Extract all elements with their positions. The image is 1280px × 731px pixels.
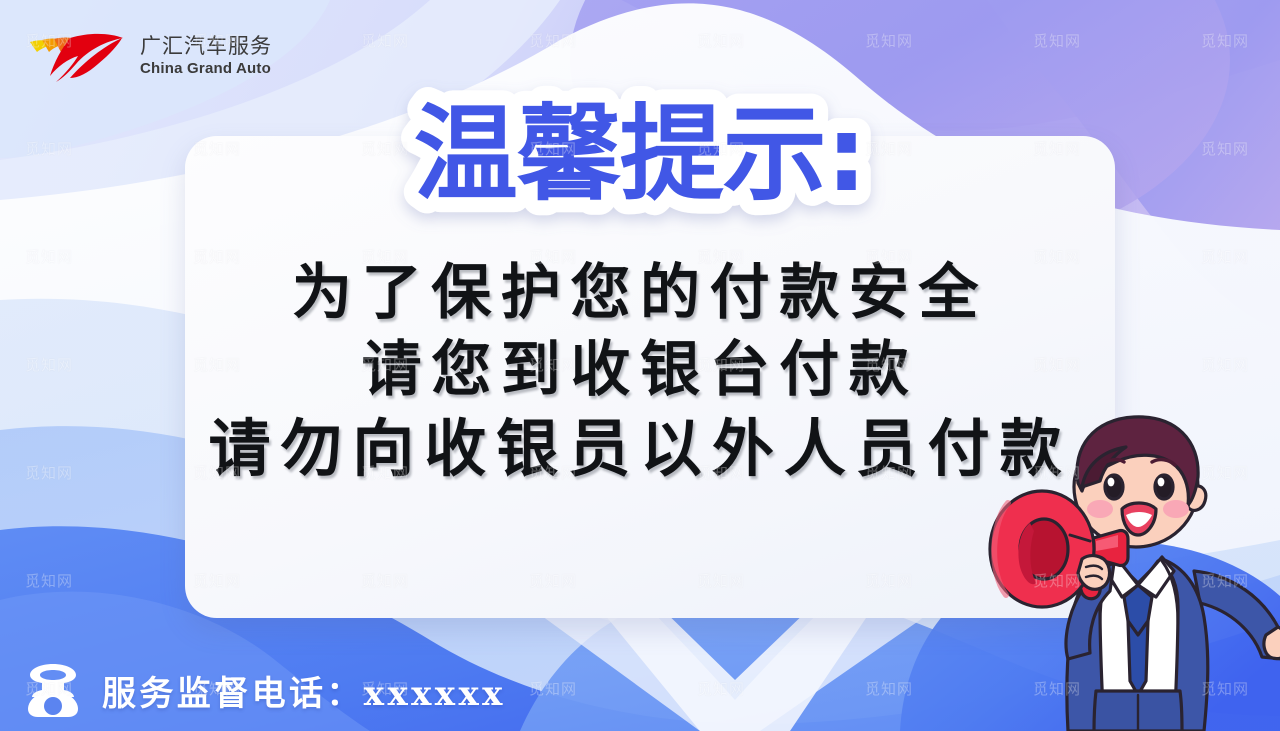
- service-hotline-text: 服务监督电话：xxxxxx: [102, 666, 506, 715]
- swoosh-logo-icon: [18, 26, 130, 86]
- notice-line-1: 为了保护您的付款安全: [0, 255, 1280, 331]
- footer-contact: 服务监督电话：xxxxxx: [22, 661, 506, 719]
- brand-name-cn: 广汇汽车服务: [140, 36, 272, 58]
- brand-name-en: China Grand Auto: [140, 61, 272, 77]
- man-with-megaphone-illustration: [986, 391, 1280, 731]
- telephone-icon: [22, 661, 84, 719]
- brand-logo: 广汇汽车服务 China Grand Auto: [18, 26, 272, 86]
- brand-logo-text: 广汇汽车服务 China Grand Auto: [140, 36, 272, 77]
- poster-canvas: 广汇汽车服务 China Grand Auto 温馨提示: 温馨提示: 为了保护…: [0, 0, 1280, 731]
